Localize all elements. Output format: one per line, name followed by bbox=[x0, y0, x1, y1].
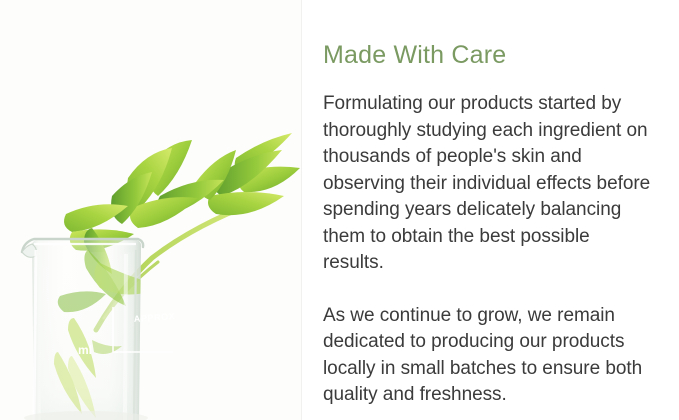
photo-backdrop: APPROX ml bbox=[0, 0, 302, 420]
beaker-volume-unit-label: ml bbox=[78, 343, 92, 357]
body-paragraph-2: As we continue to grow, we remain dedica… bbox=[323, 303, 655, 409]
beaker-with-stevia-photo: APPROX ml bbox=[0, 0, 302, 420]
glass-highlight-left bbox=[34, 250, 36, 420]
promo-card: APPROX ml Made With Care Formulating our… bbox=[0, 0, 679, 420]
text-content-panel: Made With Care Formulating our products … bbox=[302, 0, 679, 420]
section-heading: Made With Care bbox=[323, 40, 655, 70]
body-paragraph-1: Formulating our products started by thor… bbox=[323, 91, 655, 277]
product-image-panel: APPROX ml bbox=[0, 0, 302, 420]
glass-highlight-inner-right bbox=[125, 254, 126, 420]
